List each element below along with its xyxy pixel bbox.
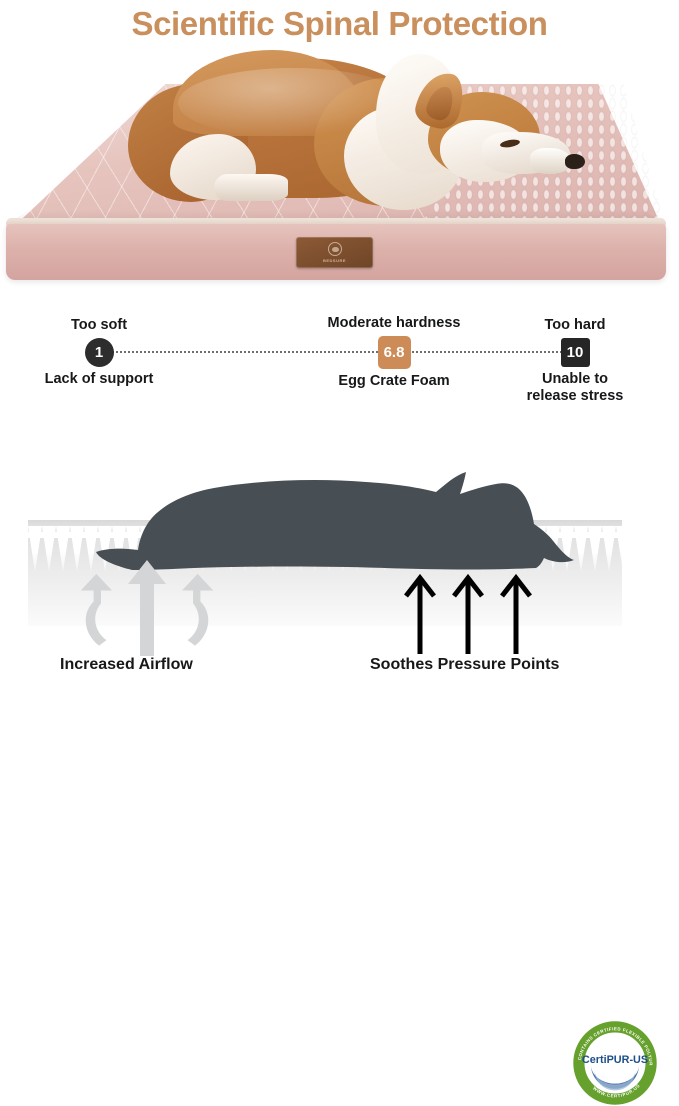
dog-bed-graphic: BEDSURE — [0, 48, 679, 293]
scale-node-too-soft: Too soft 1 Lack of support — [29, 318, 169, 388]
scale-node-caption: Too soft — [29, 318, 169, 334]
brand-leather-tag: BEDSURE — [296, 237, 373, 268]
brand-tag-label: BEDSURE — [323, 258, 346, 263]
sleeping-dog-photo — [118, 48, 558, 238]
scale-badge-1: 1 — [85, 338, 114, 367]
dog-nose — [565, 154, 585, 169]
certipur-name-text: CertiPUR-US — [582, 1054, 648, 1066]
hardness-scale: Too soft 1 Lack of support Moderate hard… — [0, 310, 679, 410]
pressure-arrows-icon — [404, 570, 564, 656]
scale-node-moderate: Moderate hardness 6.8 Egg Crate Foam — [316, 316, 472, 390]
scale-node-too-hard: Too hard 10 Unable to release stress — [505, 318, 645, 404]
page-title-bar: Scientific Spinal Protection — [0, 0, 679, 48]
scale-node-caption: Too hard — [505, 318, 645, 334]
airflow-arrows-icon — [78, 548, 228, 658]
paw-logo-icon — [328, 242, 342, 256]
page-title: Scientific Spinal Protection — [131, 5, 547, 43]
foam-tooth — [28, 526, 42, 572]
scale-node-subcaption: Lack of support — [29, 371, 169, 388]
dog-paw — [214, 174, 288, 201]
certipur-us-badge-icon: CertiPUR-US CONTAINS CERTIFIED FLEXIBLE … — [572, 1020, 658, 1106]
foam-cross-section-diagram: Increased Airflow Soothes Pressure Point… — [0, 420, 679, 686]
hero-product-photo: BEDSURE — [0, 48, 679, 293]
scale-badge-10: 10 — [561, 338, 590, 367]
scale-node-subcaption-line2: release stress — [505, 388, 645, 405]
dog-fur-highlight — [178, 68, 408, 138]
airflow-caption: Increased Airflow — [60, 656, 290, 674]
scale-badge-68: 6.8 — [378, 336, 411, 369]
scale-node-subcaption-line1: Unable to — [505, 371, 645, 388]
scale-node-subcaption: Egg Crate Foam — [316, 373, 472, 390]
pressure-caption: Soothes Pressure Points — [370, 656, 620, 674]
scale-node-caption: Moderate hardness — [316, 316, 472, 332]
